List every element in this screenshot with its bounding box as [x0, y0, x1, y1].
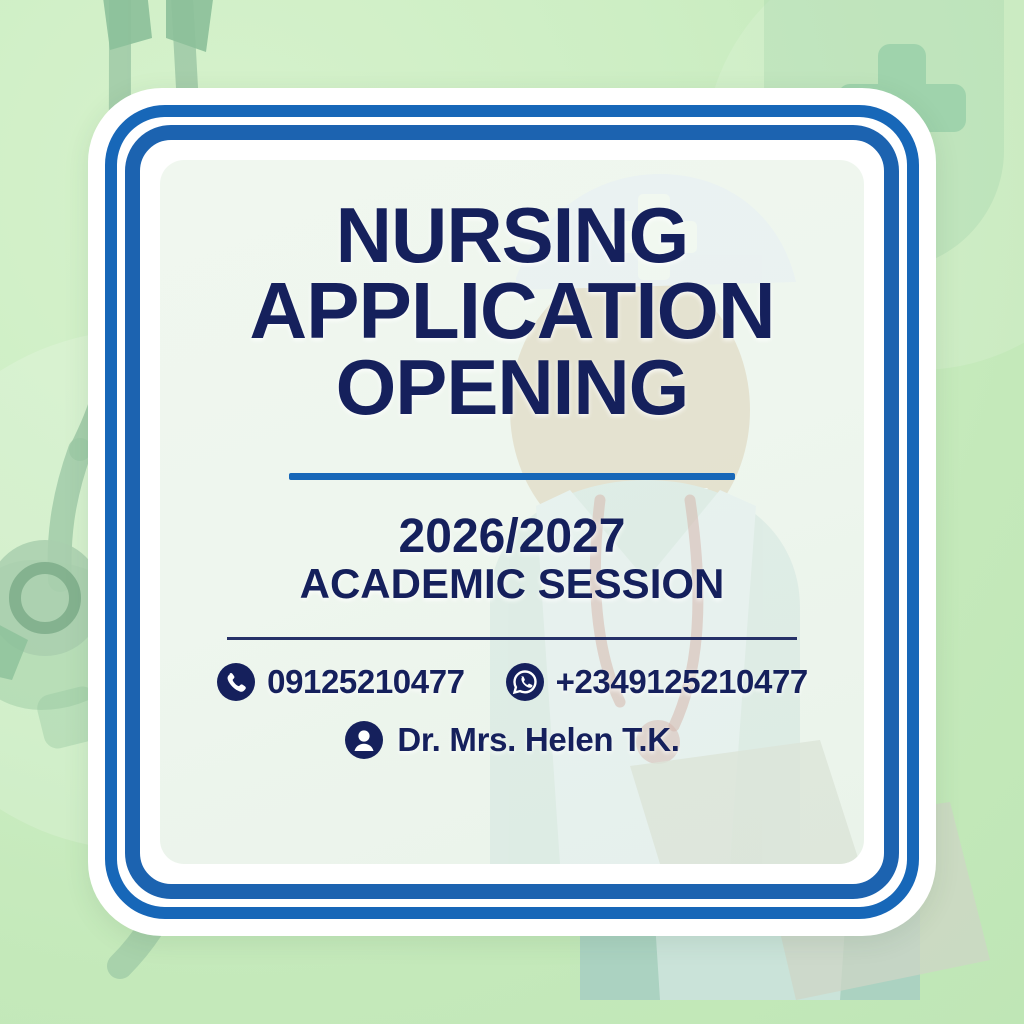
person-icon: [344, 720, 384, 760]
page-title: NURSING APPLICATION OPENING: [167, 198, 857, 425]
divider-thin: [227, 637, 797, 640]
contact-whatsapp-value: +2349125210477: [556, 663, 808, 701]
contact-whatsapp[interactable]: +2349125210477: [505, 662, 808, 702]
contact-phone[interactable]: 09125210477: [216, 662, 464, 702]
contact-row: 09125210477 +2349125210477: [216, 662, 808, 702]
poster-canvas: NURSING APPLICATION OPENING 2026/2027 AC…: [0, 0, 1024, 1024]
session-year: 2026/2027: [300, 512, 725, 563]
headline-line-2: APPLICATION: [249, 266, 774, 355]
contact-phone-value: 09125210477: [267, 663, 464, 701]
contact-person-name: Dr. Mrs. Helen T.K.: [397, 721, 679, 759]
phone-icon: [216, 662, 256, 702]
poster-content: NURSING APPLICATION OPENING 2026/2027 AC…: [160, 160, 864, 864]
contact-person: Dr. Mrs. Helen T.K.: [344, 720, 679, 760]
headline-line-3: OPENING: [336, 343, 689, 431]
session-label: ACADEMIC SESSION: [300, 562, 725, 607]
whatsapp-icon: [505, 662, 545, 702]
academic-session: 2026/2027 ACADEMIC SESSION: [300, 512, 725, 607]
divider-blue: [289, 473, 735, 480]
